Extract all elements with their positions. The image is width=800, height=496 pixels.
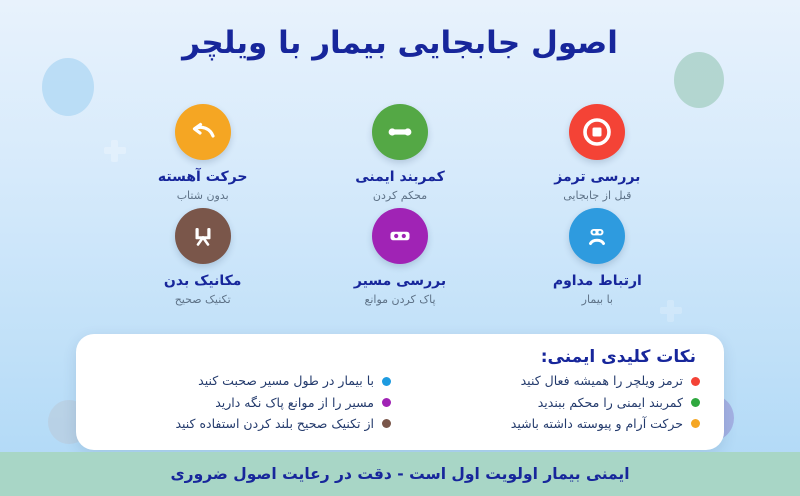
- list-item: کمربند ایمنی را محکم ببندید: [409, 394, 700, 412]
- step-title: حرکت آهسته: [158, 169, 248, 186]
- safety-tips-heading: نکات کلیدی ایمنی:: [100, 347, 700, 367]
- step-subtitle: با بیمار: [582, 293, 613, 306]
- bullet-dot-icon: [691, 377, 700, 386]
- safety-tips-card: نکات کلیدی ایمنی: ترمز ویلچر را همیشه فع…: [76, 334, 724, 450]
- list-item: حرکت آرام و پیوسته داشته باشید: [409, 415, 700, 433]
- seatbelt-icon: [372, 104, 428, 160]
- footer-banner: ایمنی بیمار اولویت اول است - دقت در رعای…: [0, 452, 800, 496]
- step-item-brake-check[interactable]: بررسی ترمز قبل از جابجایی: [499, 104, 696, 208]
- page-title: اصول جابجایی بیمار با ویلچر: [182, 24, 618, 63]
- step-title: ارتباط مداوم: [553, 273, 642, 290]
- tip-text: ترمز ویلچر را همیشه فعال کنید: [521, 372, 683, 390]
- step-item-path-check[interactable]: بررسی مسیر پاک کردن موانع: [301, 208, 498, 312]
- step-title: کمربند ایمنی: [355, 169, 445, 186]
- list-item: از تکنیک صحیح بلند کردن استفاده کنید: [100, 415, 391, 433]
- tip-text: حرکت آرام و پیوسته داشته باشید: [511, 415, 683, 433]
- bullet-dot-icon: [691, 398, 700, 407]
- tip-text: مسیر را از موانع پاک نگه دارید: [215, 394, 374, 412]
- bullet-dot-icon: [691, 419, 700, 428]
- safety-tips-columns: ترمز ویلچر را همیشه فعال کنید کمربند ایم…: [100, 372, 700, 432]
- safety-tips-column-left: با بیمار در طول مسیر صحبت کنید مسیر را ا…: [100, 372, 391, 432]
- step-item-communication[interactable]: ارتباط مداوم با بیمار: [499, 208, 696, 312]
- tip-text: کمربند ایمنی را محکم ببندید: [538, 394, 683, 412]
- step-subtitle: پاک کردن موانع: [364, 293, 435, 306]
- list-item: ترمز ویلچر را همیشه فعال کنید: [409, 372, 700, 390]
- body-mechanics-icon: [175, 208, 231, 264]
- step-title: بررسی ترمز: [554, 169, 640, 186]
- brake-stop-icon: [569, 104, 625, 160]
- title-bar: اصول جابجایی بیمار با ویلچر: [0, 0, 800, 86]
- steps-grid: بررسی ترمز قبل از جابجایی کمربند ایمنی م…: [104, 104, 696, 312]
- safety-tips-column-right: ترمز ویلچر را همیشه فعال کنید کمربند ایم…: [409, 372, 700, 432]
- step-subtitle: تکنیک صحیح: [175, 293, 231, 306]
- path-check-icon: [372, 208, 428, 264]
- step-item-slow-movement[interactable]: حرکت آهسته بدون شتاب: [104, 104, 301, 208]
- patient-face-icon: [569, 208, 625, 264]
- footer-text: ایمنی بیمار اولویت اول است - دقت در رعای…: [170, 465, 629, 483]
- tip-text: از تکنیک صحیح بلند کردن استفاده کنید: [175, 415, 374, 433]
- step-subtitle: قبل از جابجایی: [563, 189, 631, 202]
- step-subtitle: محکم کردن: [373, 189, 427, 202]
- step-title: بررسی مسیر: [354, 273, 446, 290]
- bullet-dot-icon: [382, 398, 391, 407]
- step-item-body-mechanics[interactable]: مکانیک بدن تکنیک صحیح: [104, 208, 301, 312]
- slow-curved-arrow-icon: [175, 104, 231, 160]
- step-subtitle: بدون شتاب: [177, 189, 229, 202]
- step-title: مکانیک بدن: [164, 273, 242, 290]
- list-item: با بیمار در طول مسیر صحبت کنید: [100, 372, 391, 390]
- tip-text: با بیمار در طول مسیر صحبت کنید: [198, 372, 374, 390]
- bullet-dot-icon: [382, 377, 391, 386]
- bullet-dot-icon: [382, 419, 391, 428]
- step-item-seatbelt[interactable]: کمربند ایمنی محکم کردن: [301, 104, 498, 208]
- infographic-page: { "header": { "title": "اصول جابجایی بیم…: [0, 0, 800, 496]
- list-item: مسیر را از موانع پاک نگه دارید: [100, 394, 391, 412]
